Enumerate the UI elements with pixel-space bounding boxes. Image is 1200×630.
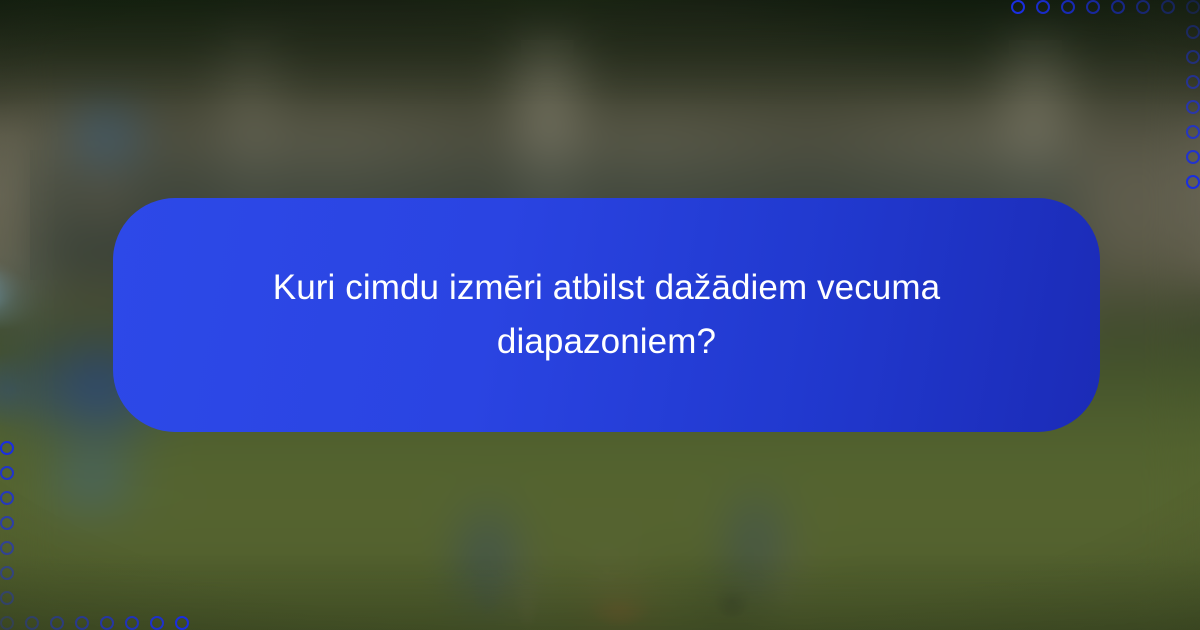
decorative-dot [1036, 0, 1050, 14]
decorative-dot [0, 491, 14, 505]
decorative-dot [0, 516, 14, 530]
decorative-dots-top-right [1000, 0, 1200, 200]
decorative-dot [1111, 0, 1125, 14]
decorative-dot [1061, 0, 1075, 14]
decorative-dot [1136, 0, 1150, 14]
question-text: Kuri cimdu izmēri atbilst dažādiem vecum… [201, 261, 1012, 370]
screenshot-stage: Kuri cimdu izmēri atbilst dažādiem vecum… [0, 0, 1200, 630]
decorative-dot [150, 616, 164, 630]
decorative-dot [1186, 125, 1200, 139]
decorative-dot [1186, 175, 1200, 189]
decorative-dot [100, 616, 114, 630]
decorative-dot [1186, 100, 1200, 114]
decorative-dot [1186, 25, 1200, 39]
decorative-dot [0, 591, 14, 605]
decorative-dot [75, 616, 89, 630]
decorative-dot [1186, 75, 1200, 89]
decorative-dots-bottom-left [0, 430, 200, 630]
decorative-dot [0, 541, 14, 555]
decorative-dot [1186, 50, 1200, 64]
decorative-dot [0, 441, 14, 455]
decorative-dot [125, 616, 139, 630]
decorative-dot [1011, 0, 1025, 14]
decorative-dot [0, 616, 14, 630]
decorative-dot [50, 616, 64, 630]
decorative-dot [1186, 0, 1200, 14]
decorative-dot [1186, 150, 1200, 164]
decorative-dot [0, 566, 14, 580]
decorative-dot [0, 466, 14, 480]
decorative-dot [1161, 0, 1175, 14]
decorative-dot [175, 616, 189, 630]
question-card: Kuri cimdu izmēri atbilst dažādiem vecum… [113, 198, 1100, 432]
decorative-dot [1086, 0, 1100, 14]
decorative-dot [25, 616, 39, 630]
